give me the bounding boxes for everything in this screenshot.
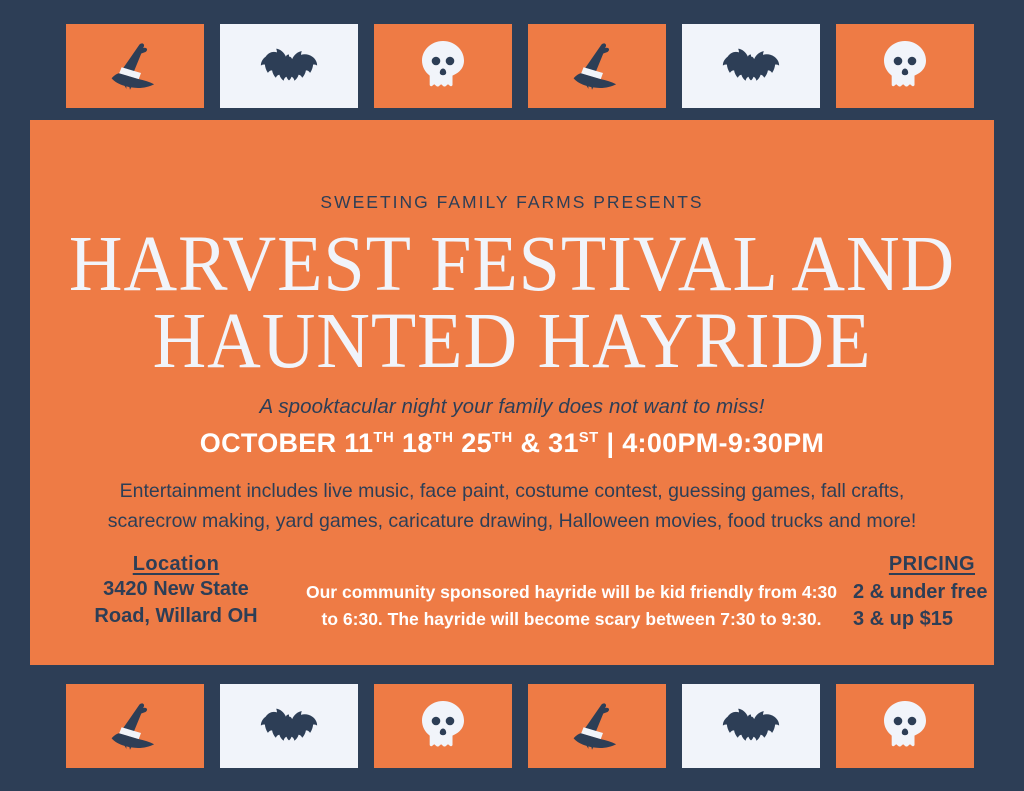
entertainment-description: Entertainment includes live music, face … [30, 477, 994, 536]
icon-tile-witch-hat-2 [528, 24, 666, 108]
skull-icon [883, 39, 927, 93]
icon-tile-bat-4 [682, 684, 820, 768]
date-day-2-suffix: TH [433, 430, 454, 446]
bat-icon [720, 46, 782, 86]
witch-hat-icon [568, 40, 626, 92]
icon-tile-witch-hat-3 [66, 684, 204, 768]
date-day-2: 18 [402, 428, 433, 458]
date-day-1: 11 [344, 428, 373, 458]
date-day-3-suffix: TH [492, 430, 513, 446]
icon-tile-skull-3 [374, 684, 512, 768]
date-separator: | [607, 428, 615, 458]
skull-icon [421, 39, 465, 93]
date-day-4: 31 [548, 428, 579, 458]
location-address-line-2: Road, Willard OH [60, 603, 292, 630]
skull-icon [421, 699, 465, 753]
hayride-note-line-2: to 6:30. The hayride will become scary b… [306, 606, 837, 633]
top-icon-strip [66, 24, 974, 108]
bat-icon [258, 46, 320, 86]
skull-icon [883, 699, 927, 753]
witch-hat-icon [106, 40, 164, 92]
icon-tile-bat-2 [682, 24, 820, 108]
event-title-line-1: HARVEST FESTIVAL AND [59, 227, 965, 302]
date-day-4-suffix: ST [579, 430, 599, 446]
icon-tile-bat-3 [220, 684, 358, 768]
witch-hat-icon [568, 700, 626, 752]
date-day-1-suffix: TH [373, 430, 394, 446]
event-tagline: A spooktacular night your family does no… [30, 395, 994, 419]
icon-tile-witch-hat-4 [528, 684, 666, 768]
event-dateline: OCTOBER 11TH 18TH 25TH & 31ST | 4:00PM-9… [30, 428, 994, 459]
pricing-line-1: 2 & under free [847, 579, 1015, 606]
event-title-line-2: HAUNTED HAYRIDE [59, 304, 965, 379]
pricing-line-2: 3 & up $15 [847, 606, 1015, 633]
location-column: Location 3420 New State Road, Willard OH [60, 553, 292, 630]
bat-icon [720, 706, 782, 746]
location-heading: Location [60, 553, 292, 576]
entertainment-line-2: scarecrow making, yard games, caricature… [46, 507, 978, 537]
event-title: HARVEST FESTIVAL AND HAUNTED HAYRIDE [59, 227, 965, 379]
main-content-panel: SWEETING FAMILY FARMS PRESENTS HARVEST F… [30, 120, 994, 665]
date-ampersand: & [521, 428, 541, 458]
details-columns: Location 3420 New State Road, Willard OH… [30, 553, 994, 633]
icon-tile-skull-4 [836, 684, 974, 768]
hayride-note: Our community sponsored hayride will be … [292, 553, 847, 632]
icon-tile-witch-hat-1 [66, 24, 204, 108]
icon-tile-bat-1 [220, 24, 358, 108]
presenter-line: SWEETING FAMILY FARMS PRESENTS [30, 192, 994, 213]
halloween-event-poster: SWEETING FAMILY FARMS PRESENTS HARVEST F… [0, 0, 1024, 791]
witch-hat-icon [106, 700, 164, 752]
location-address-line-1: 3420 New State [60, 576, 292, 603]
event-time: 4:00PM-9:30PM [622, 428, 824, 458]
bottom-icon-strip [66, 684, 974, 768]
icon-tile-skull-1 [374, 24, 512, 108]
bat-icon [258, 706, 320, 746]
entertainment-line-1: Entertainment includes live music, face … [46, 477, 978, 507]
pricing-column: PRICING 2 & under free 3 & up $15 [847, 553, 1015, 633]
date-month: OCTOBER [200, 428, 337, 458]
hayride-note-line-1: Our community sponsored hayride will be … [306, 579, 837, 606]
icon-tile-skull-2 [836, 24, 974, 108]
date-day-3: 25 [461, 428, 492, 458]
pricing-heading: PRICING [849, 553, 1015, 576]
